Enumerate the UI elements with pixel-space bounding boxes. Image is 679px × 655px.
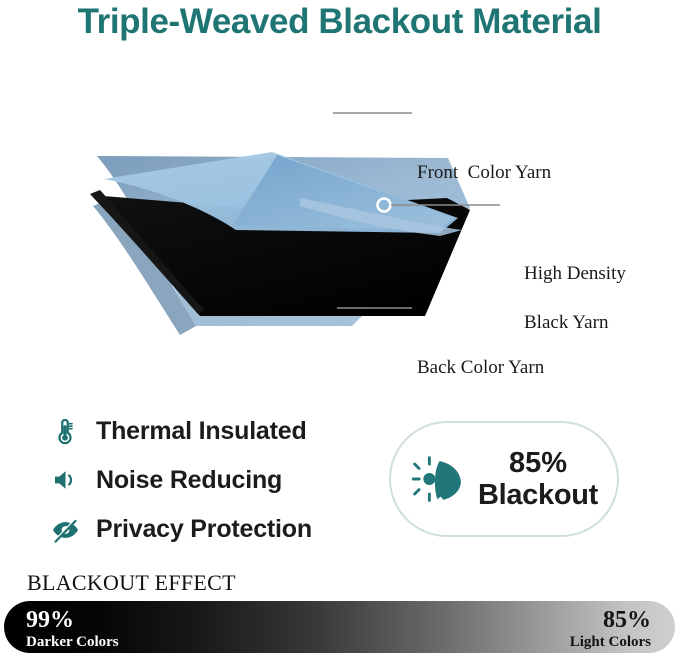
feature-label-noise-reducing: Noise Reducing xyxy=(96,466,282,495)
gradient-bar-left-caption: Darker Colors xyxy=(26,633,119,651)
feature-label-privacy-protection: Privacy Protection xyxy=(96,515,312,544)
speaker-icon xyxy=(48,463,82,497)
feature-list: Thermal Insulated Noise Reducing Privacy… xyxy=(48,410,378,557)
sun-blocked-icon xyxy=(410,448,472,510)
page-title: Triple-Weaved Blackout Material xyxy=(0,2,679,42)
callout-black-line1: High Density xyxy=(524,263,626,284)
gradient-bar-right-caption: Light Colors xyxy=(570,633,651,651)
thermometer-icon xyxy=(48,414,82,448)
blackout-effect-gradient-bar: 99% Darker Colors 85% Light Colors xyxy=(4,601,675,653)
gradient-bar-right-stat: 85% Light Colors xyxy=(570,608,651,651)
gradient-bar-right-percent: 85% xyxy=(570,608,651,633)
callout-high-density-black-yarn: High Density Black Yarn xyxy=(505,238,626,360)
callout-front-color-yarn: Front Color Yarn xyxy=(417,161,551,185)
gradient-bar-left-percent: 99% xyxy=(26,608,119,633)
gradient-bar-left-stat: 99% Darker Colors xyxy=(26,608,119,651)
eye-slash-icon xyxy=(48,512,82,546)
badge-label: Blackout xyxy=(478,479,598,511)
blackout-badge: 85% Blackout xyxy=(389,421,619,537)
badge-percent: 85% xyxy=(478,447,598,479)
blackout-effect-heading: BLACKOUT EFFECT xyxy=(27,570,236,596)
callout-black-line2: Black Yarn xyxy=(524,312,608,333)
callout-back-color-yarn: Back Color Yarn xyxy=(417,356,544,380)
triple-layer-fabric-diagram: Front Color Yarn High Density Black Yarn… xyxy=(0,58,679,358)
feature-label-thermal-insulated: Thermal Insulated xyxy=(96,417,307,446)
feature-item-privacy-protection: Privacy Protection xyxy=(48,508,378,550)
feature-item-thermal-insulated: Thermal Insulated xyxy=(48,410,378,452)
feature-item-noise-reducing: Noise Reducing xyxy=(48,459,378,501)
badge-text: 85% Blackout xyxy=(478,447,598,512)
